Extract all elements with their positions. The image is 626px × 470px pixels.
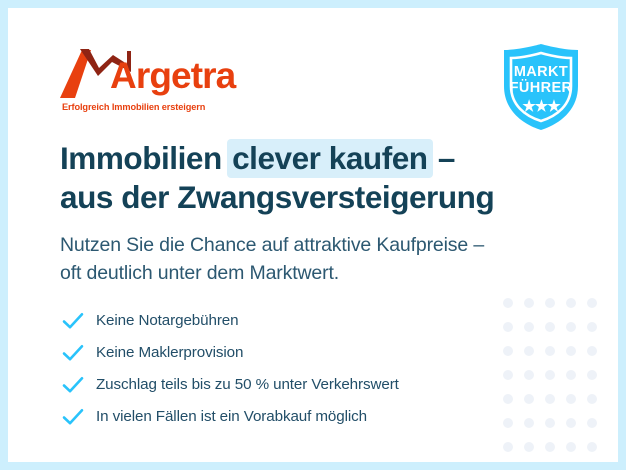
feature-label: In vielen Fällen ist ein Vorabkauf mögli… — [96, 408, 367, 425]
feature-list: Keine Notargebühren Keine Maklerprovisio… — [62, 306, 399, 434]
badge-line-1: MARKT — [500, 64, 582, 80]
subtitle-line-1: Nutzen Sie die Chance auf attraktive Kau… — [60, 232, 484, 260]
brand-logo[interactable]: Argetra Erfolgreich Immobilien ersteiger… — [60, 46, 260, 98]
dot — [587, 322, 597, 332]
dot — [566, 346, 576, 356]
dot — [587, 418, 597, 428]
list-item: In vielen Fällen ist ein Vorabkauf mögli… — [62, 402, 399, 431]
dot — [524, 322, 534, 332]
check-icon — [62, 312, 84, 330]
dot — [566, 394, 576, 404]
dot — [587, 394, 597, 404]
dot — [524, 370, 534, 380]
dot — [545, 298, 555, 308]
decorative-dot-grid — [503, 298, 608, 462]
dot — [503, 322, 513, 332]
check-icon — [62, 376, 84, 394]
promo-banner: Argetra Erfolgreich Immobilien ersteiger… — [0, 0, 626, 470]
list-item: Keine Maklerprovision — [62, 338, 399, 367]
dot — [587, 298, 597, 308]
dot — [524, 346, 534, 356]
check-icon — [62, 408, 84, 426]
dot — [545, 418, 555, 428]
feature-label: Keine Notargebühren — [96, 312, 239, 329]
dot — [587, 442, 597, 452]
logo-row: Argetra — [60, 46, 260, 98]
dot — [503, 370, 513, 380]
subtitle: Nutzen Sie die Chance auf attraktive Kau… — [60, 232, 484, 287]
badge-line-2: FÜHRER — [500, 80, 582, 96]
dot — [524, 418, 534, 428]
dot — [566, 418, 576, 428]
logo-tagline: Erfolgreich Immobilien ersteigern — [62, 102, 205, 112]
page-title: Immobilien clever kaufen – aus der Zwang… — [60, 139, 494, 218]
dot — [503, 394, 513, 404]
market-leader-badge: MARKT FÜHRER ★★★ — [500, 42, 582, 132]
list-item: Keine Notargebühren — [62, 306, 399, 335]
dot — [503, 418, 513, 428]
headline-prefix: Immobilien — [60, 140, 230, 176]
list-item: Zuschlag teils bis zu 50 % unter Verkehr… — [62, 370, 399, 399]
dot — [545, 394, 555, 404]
badge-stars: ★★★ — [500, 97, 582, 115]
dot — [566, 298, 576, 308]
dot — [545, 346, 555, 356]
subtitle-line-2: oft deutlich unter dem Marktwert. — [60, 260, 484, 288]
dot — [545, 322, 555, 332]
banner-card: Argetra Erfolgreich Immobilien ersteiger… — [8, 8, 618, 462]
dot — [524, 298, 534, 308]
dot — [566, 370, 576, 380]
feature-label: Keine Maklerprovision — [96, 344, 243, 361]
dot — [524, 442, 534, 452]
headline-suffix: – — [430, 140, 455, 176]
feature-label: Zuschlag teils bis zu 50 % unter Verkehr… — [96, 376, 399, 393]
headline-highlight: clever kaufen — [227, 139, 433, 178]
headline-line-1: Immobilien clever kaufen – — [60, 139, 494, 178]
dot — [566, 322, 576, 332]
dot — [503, 442, 513, 452]
dot — [587, 346, 597, 356]
dot — [503, 346, 513, 356]
dot — [545, 370, 555, 380]
dot — [524, 394, 534, 404]
dot — [545, 442, 555, 452]
dot — [566, 442, 576, 452]
check-icon — [62, 344, 84, 362]
dot — [587, 370, 597, 380]
logo-wordmark: Argetra — [110, 57, 235, 94]
dot — [503, 298, 513, 308]
headline-line-2: aus der Zwangsversteigerung — [60, 178, 494, 217]
